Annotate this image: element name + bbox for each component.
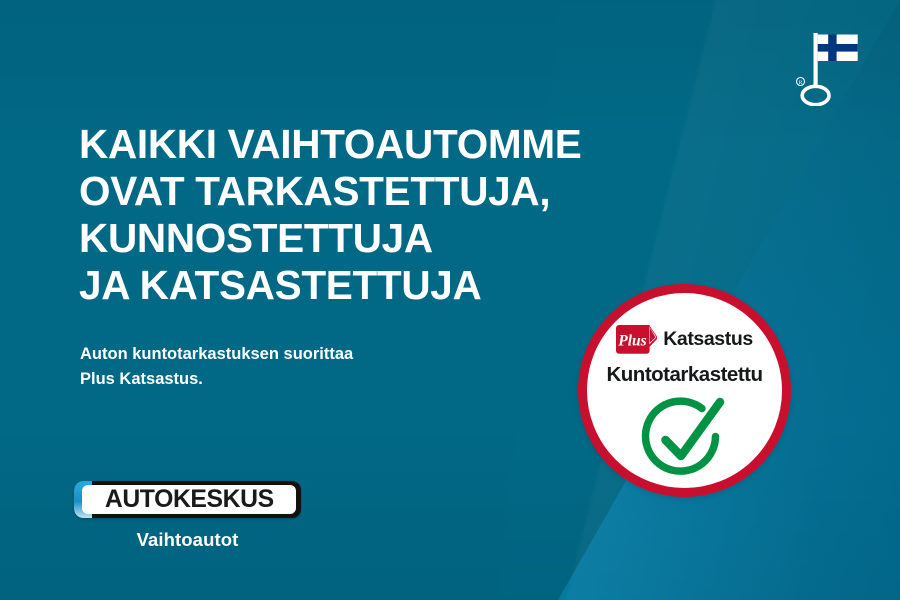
avainlippu-key-flag-icon: R bbox=[786, 26, 864, 106]
autokeskus-wordmark: AUTOKESKUS bbox=[105, 487, 274, 512]
headline: KAIKKI VAIHTOAUTOMME OVAT TARKASTETTUJA,… bbox=[79, 121, 679, 309]
badge-claim-text: Kuntotarkastettu bbox=[587, 363, 782, 387]
vehicle-inspection-banner: R KAIKKI VAIHTOAUTOMME OVAT TARKASTETTUJ… bbox=[0, 0, 900, 600]
badge-brand-row: Plus Katsastus bbox=[587, 325, 782, 354]
plate-face: AUTOKESKUS bbox=[82, 485, 296, 514]
autokeskus-logo[interactable]: AUTOKESKUS Vaihtoautot bbox=[74, 481, 301, 551]
autokeskus-plate: AUTOKESKUS bbox=[74, 481, 301, 518]
svg-text:Plus: Plus bbox=[618, 332, 646, 349]
green-check-icon bbox=[639, 396, 731, 484]
plus-katsastus-badge: Plus Katsastus Kuntotarkastettu bbox=[578, 284, 791, 497]
katsastus-wordmark: Katsastus bbox=[663, 330, 753, 350]
svg-text:R: R bbox=[799, 80, 803, 86]
plus-logo-icon: Plus bbox=[616, 325, 658, 354]
subtext: Auton kuntotarkastuksen suorittaa Plus K… bbox=[80, 342, 510, 392]
autokeskus-subtitle: Vaihtoautot bbox=[74, 529, 301, 551]
